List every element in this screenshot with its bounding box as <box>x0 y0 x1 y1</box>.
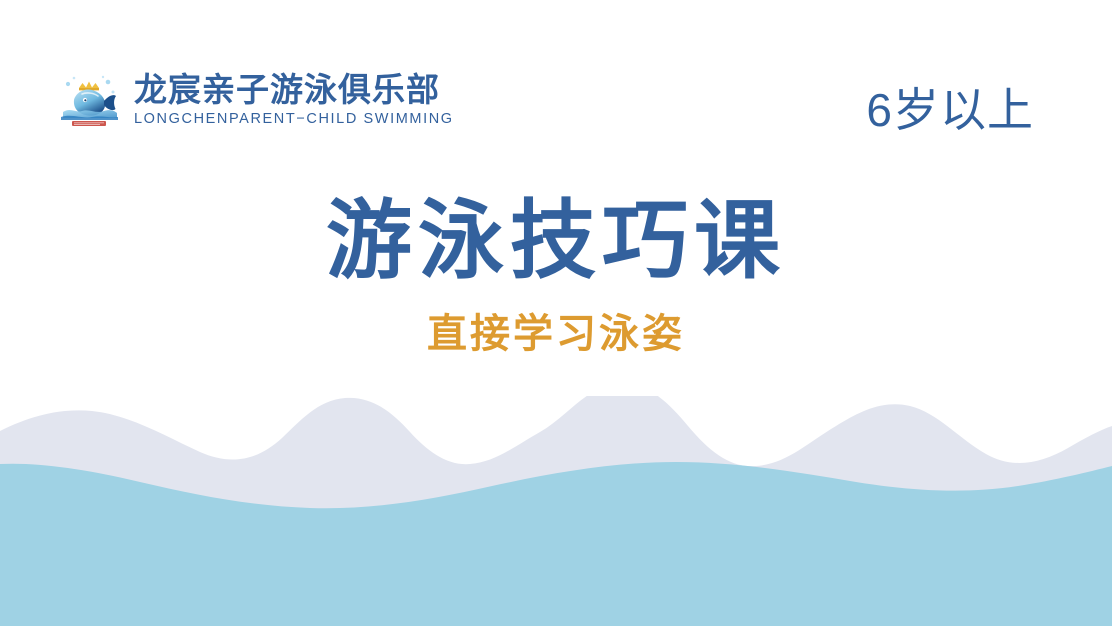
brand-name-cn: 龙宸亲子游泳俱乐部 <box>134 72 454 108</box>
brand-name-en: LONGCHENPARENT−CHILD SWIMMING <box>134 112 454 128</box>
slide-canvas: 龙宸亲子游泳俱乐部 LONGCHENPARENT−CHILD SWIMMING … <box>0 0 1112 626</box>
brand-lockup: 龙宸亲子游泳俱乐部 LONGCHENPARENT−CHILD SWIMMING <box>58 68 454 130</box>
age-requirement-badge: 6岁以上 <box>866 74 1034 140</box>
whale-crown-logo-icon <box>58 68 120 130</box>
page-subtitle: 直接学习泳姿 <box>0 312 1112 356</box>
brand-text-block: 龙宸亲子游泳俱乐部 LONGCHENPARENT−CHILD SWIMMING <box>134 70 454 128</box>
page-title: 游泳技巧课 <box>0 196 1112 286</box>
wave-decoration <box>0 396 1112 626</box>
title-block: 游泳技巧课 直接学习泳姿 <box>0 196 1112 356</box>
slide-header: 龙宸亲子游泳俱乐部 LONGCHENPARENT−CHILD SWIMMING … <box>0 0 1112 170</box>
